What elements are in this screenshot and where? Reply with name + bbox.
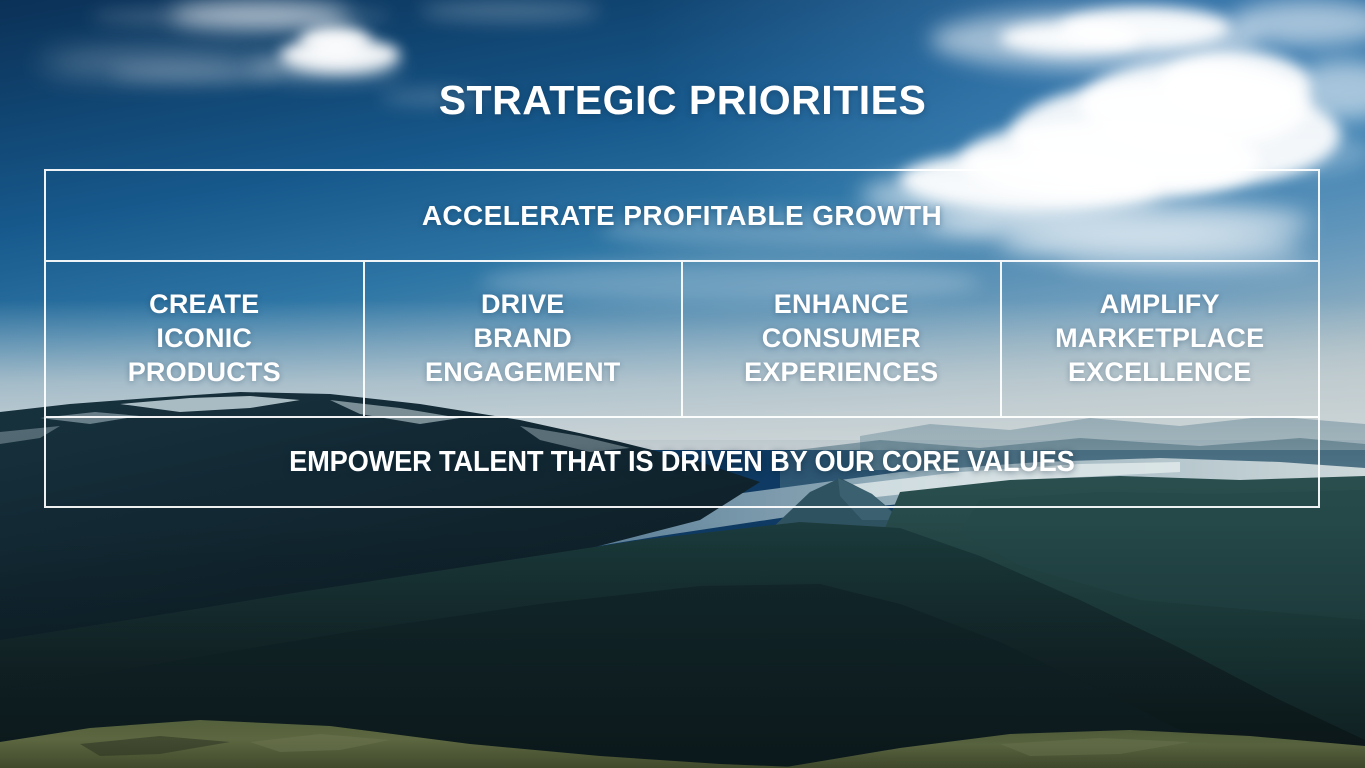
vignette xyxy=(0,520,1365,768)
presentation-slide: STRATEGIC PRIORITIES ACCELERATE PROFITAB… xyxy=(0,0,1365,768)
pillar-label: CREATE ICONIC PRODUCTS xyxy=(128,288,281,389)
pillar-label: AMPLIFY MARKETPLACE EXCELLENCE xyxy=(1055,288,1264,389)
pillar-label: ENHANCE CONSUMER EXPERIENCES xyxy=(744,288,938,389)
pillar-amplify-marketplace-excellence[interactable]: AMPLIFY MARKETPLACE EXCELLENCE xyxy=(1002,262,1319,416)
pillars-row: CREATE ICONIC PRODUCTS DRIVE BRAND ENGAG… xyxy=(46,262,1318,418)
pillar-label: DRIVE BRAND ENGAGEMENT xyxy=(425,288,621,389)
bottom-band-label: EMPOWER TALENT THAT IS DRIVEN BY OUR COR… xyxy=(289,446,1075,479)
accelerate-profitable-growth-band[interactable]: ACCELERATE PROFITABLE GROWTH xyxy=(46,171,1318,262)
pillar-create-iconic-products[interactable]: CREATE ICONIC PRODUCTS xyxy=(46,262,365,416)
strategic-framework: ACCELERATE PROFITABLE GROWTH CREATE ICON… xyxy=(44,169,1320,508)
pillar-enhance-consumer-experiences[interactable]: ENHANCE CONSUMER EXPERIENCES xyxy=(683,262,1002,416)
top-band-label: ACCELERATE PROFITABLE GROWTH xyxy=(422,200,942,232)
pillar-drive-brand-engagement[interactable]: DRIVE BRAND ENGAGEMENT xyxy=(365,262,684,416)
page-title: STRATEGIC PRIORITIES xyxy=(0,80,1365,121)
empower-talent-band[interactable]: EMPOWER TALENT THAT IS DRIVEN BY OUR COR… xyxy=(46,418,1318,506)
